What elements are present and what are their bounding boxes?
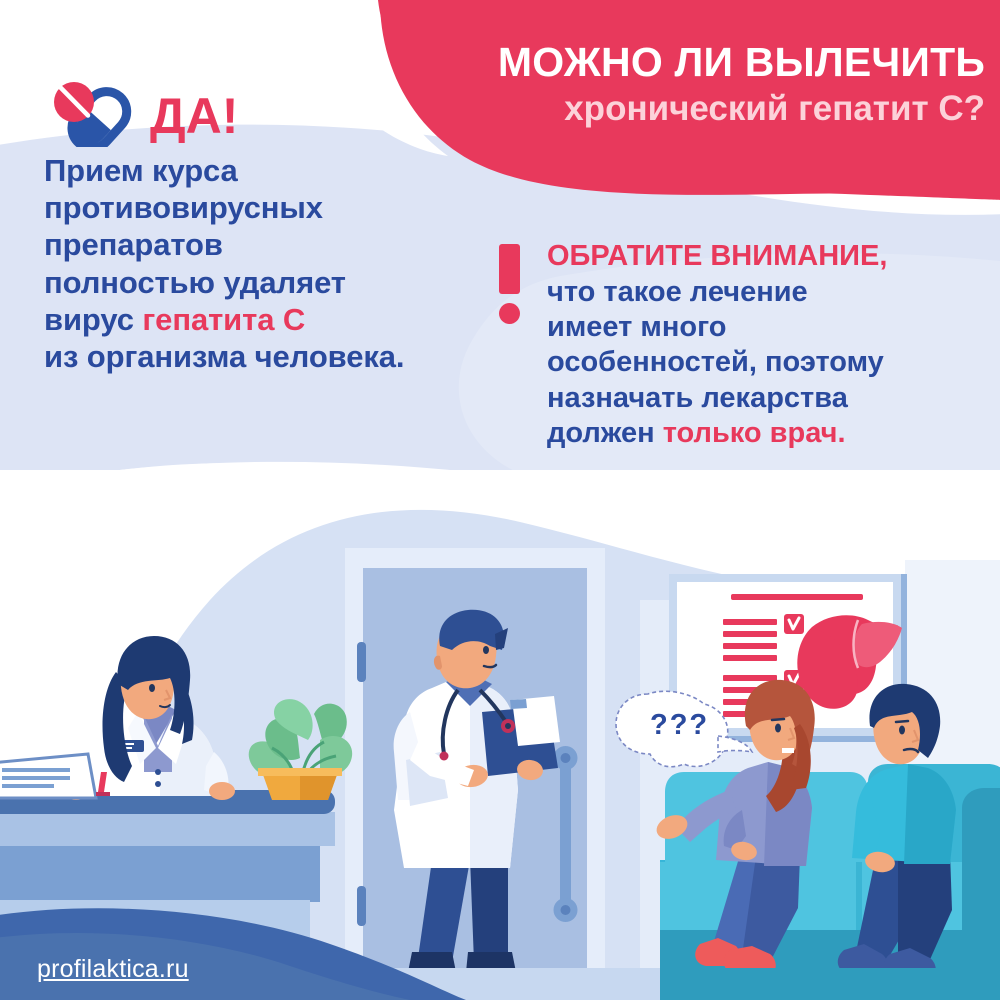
note-line: назначать лекарства xyxy=(547,381,969,416)
speech-bubble-text: ??? xyxy=(650,709,709,742)
reception-desk xyxy=(0,790,335,962)
desk-body xyxy=(0,812,335,846)
answer-line: из организма человека. xyxy=(44,338,464,375)
woman-mouth xyxy=(782,748,794,753)
clipboard-clip xyxy=(510,699,527,709)
poster-header: МОЖНО ЛИ ВЫЛЕЧИТЬ хронический гепатит С? xyxy=(455,42,985,129)
stethoscope-bell-inner xyxy=(505,723,511,729)
woman-eye xyxy=(775,724,781,733)
poster-checkbox-1 xyxy=(784,614,804,634)
receptionist-button-1 xyxy=(155,769,161,775)
floor-strip-dark xyxy=(660,968,1000,1000)
receptionist-eye xyxy=(149,684,155,692)
answer-line: вирус гепатита С xyxy=(44,301,464,338)
plant-pot-rim xyxy=(258,768,342,776)
man-eye xyxy=(899,726,905,735)
sofa-cushion-divider xyxy=(856,862,862,930)
poster-text-line-3 xyxy=(723,643,777,649)
pen-stand xyxy=(96,792,110,796)
monitor-line-3 xyxy=(2,784,54,788)
note-line: особенностей, поэтому xyxy=(547,345,969,380)
poster-text-line-5 xyxy=(723,675,777,681)
note-line: что такое лечение xyxy=(547,275,969,310)
woman-brow xyxy=(772,719,784,720)
poster-title-bar xyxy=(731,594,863,600)
answer-body: Прием курса противовирусных препаратов п… xyxy=(44,152,464,375)
desk-lower xyxy=(0,842,320,902)
door-handle-bottom-inner xyxy=(561,905,571,915)
desk-monitor xyxy=(0,754,96,798)
site-url-link[interactable]: profilaktica.ru xyxy=(37,955,189,984)
answer-line: Прием курса xyxy=(44,152,464,189)
monitor-line-1 xyxy=(2,768,70,772)
answer-line-text: вирус xyxy=(44,302,142,337)
doctor-eye xyxy=(483,646,489,654)
man-brow xyxy=(896,721,908,722)
doctor-leg-front xyxy=(470,858,508,962)
exclamation-bar xyxy=(499,244,520,294)
answer-line-highlight: гепатита С xyxy=(142,302,305,337)
note-body: что такое лечение имеет много особенност… xyxy=(547,275,969,452)
note-headline: ОБРАТИТЕ ВНИМАНИЕ, xyxy=(547,240,969,274)
note-line: должен только врач. xyxy=(547,416,969,451)
door-handle-bar xyxy=(560,760,571,908)
title-line-1: МОЖНО ЛИ ВЫЛЕЧИТЬ xyxy=(455,42,985,83)
pills-icon xyxy=(44,81,140,147)
receptionist-badge-line xyxy=(125,743,134,745)
monitor-line-2 xyxy=(2,776,70,780)
note-block: ОБРАТИТЕ ВНИМАНИЕ, что такое лечение име… xyxy=(499,240,969,452)
sofa-armrest-right xyxy=(962,788,1000,930)
door-hinge-top xyxy=(357,642,366,682)
poster-text-line-4 xyxy=(723,655,777,661)
door-handle-top-inner xyxy=(561,753,571,763)
answer-line: препаратов xyxy=(44,226,464,263)
exclamation-icon xyxy=(499,244,525,324)
receptionist-hand-right xyxy=(209,782,235,800)
poster-canvas: ??? МОЖНО ЛИ ВЫЛЕЧИТЬ хронический гепати… xyxy=(0,0,1000,1000)
title-line-2: хронический гепатит С? xyxy=(455,88,985,129)
poster-text-line-1 xyxy=(723,619,777,625)
exclamation-dot xyxy=(499,303,520,324)
desk-front-panel xyxy=(0,900,310,962)
note-line-highlight: только врач. xyxy=(663,417,846,449)
note-line: имеет много xyxy=(547,310,969,345)
door-hinge-bottom xyxy=(357,886,366,926)
note-line-text: должен xyxy=(547,417,663,449)
poster-text-line-2 xyxy=(723,631,777,637)
receptionist-button-2 xyxy=(155,781,161,787)
answer-line: противовирусных xyxy=(44,189,464,226)
answer-block: ДА! Прием курса противовирусных препарат… xyxy=(44,78,464,375)
answer-headline: ДА! xyxy=(150,91,238,141)
note-text: ОБРАТИТЕ ВНИМАНИЕ, что такое лечение име… xyxy=(547,240,969,452)
answer-headline-row: ДА! xyxy=(44,78,464,150)
stethoscope-tip xyxy=(440,752,449,761)
answer-line: полностью удаляет xyxy=(44,264,464,301)
